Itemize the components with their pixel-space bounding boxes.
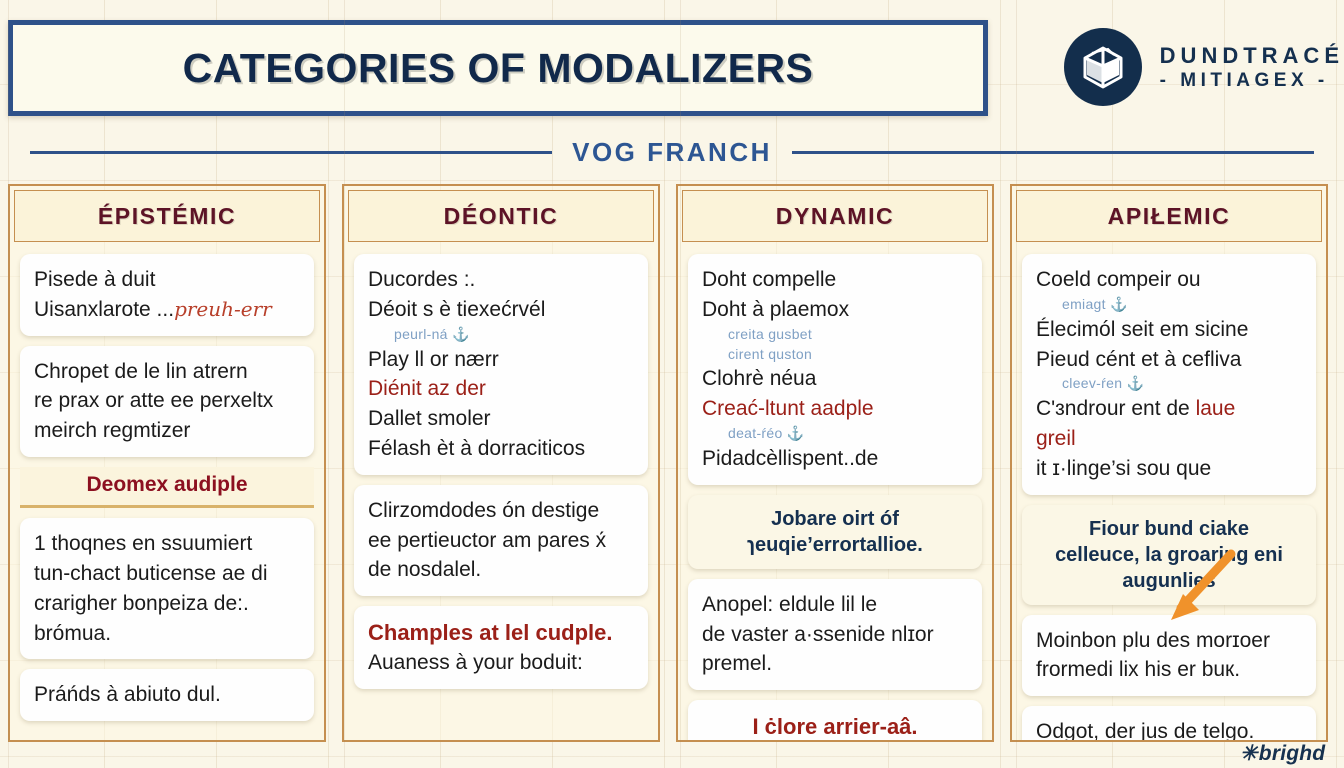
column-header-label: DÉONTIC — [444, 203, 559, 230]
line-suffix: preuh-err — [174, 297, 272, 321]
card-line: augunlies — [1036, 568, 1302, 594]
card-line: brómua. — [34, 619, 300, 649]
line-suffix: laue — [1196, 397, 1236, 420]
content-card: Ducordes :.Déoit s è tiexećrvélpeurl-ná … — [354, 254, 648, 475]
content-card: Odgot, der jus de telgo. — [1022, 706, 1316, 740]
page-title: CATEGORIES OF MODALIZERS — [183, 45, 814, 92]
line-text: Coeld compeir ou — [1036, 268, 1201, 291]
card-line: de vaster a·ssenide nlɪor — [702, 620, 968, 650]
card-line: Diénit az der — [368, 374, 634, 404]
column-header: APIŁEMIC — [1016, 190, 1322, 242]
subtitle: VOG FRANCH — [572, 137, 772, 168]
annotation-note: cleev-ŕen ⚓ — [1036, 374, 1302, 394]
line-text: Champles at lel cudple. — [368, 620, 613, 645]
category-column: DYNAMICDoht compelleDoht à plaemoxcreita… — [676, 184, 994, 742]
line-text: Ducordes :. — [368, 268, 475, 291]
card-line: crarigher bonpeiza de:. — [34, 589, 300, 619]
summary-card: Jobare oirt ófɿeuqie’errortallioe. — [688, 495, 982, 569]
content-card: Doht compelleDoht à plaemoxcreita gusbet… — [688, 254, 982, 485]
content-card: Moinbon plu des morɪoerfrormedi lix his … — [1022, 615, 1316, 697]
rule-left — [30, 151, 552, 154]
line-text: Clirzomdodes ón destige — [368, 499, 599, 522]
card-line: re prax or atte ee perxeltx — [34, 386, 300, 416]
line-text: Diénit az der — [368, 377, 486, 400]
line-text: brómua. — [34, 622, 111, 645]
line-text: creita gusbet — [728, 326, 812, 342]
line-text: de vaster a·ssenide nlɪor — [702, 623, 934, 646]
column-header-label: ÉPISTÉMIC — [98, 203, 236, 230]
line-text: Auaness à your boduit: — [368, 651, 583, 674]
category-column: ÉPISTÉMICPisede à duitUisanxlarote ...pr… — [8, 184, 326, 742]
column-header: DYNAMIC — [682, 190, 988, 242]
line-text: Élecimól seit em sicine — [1036, 318, 1248, 341]
line-text: 1 thoqnes en ssuumiert — [34, 532, 252, 555]
rule-right — [792, 151, 1314, 154]
card-line: Jobare oirt óf — [702, 506, 968, 532]
card-line: greil — [1036, 424, 1302, 454]
annotation-note: creita gusbet — [702, 325, 968, 345]
line-text: greil — [1036, 427, 1076, 450]
column-header: DÉONTIC — [348, 190, 654, 242]
line-text: Clohrè néua — [702, 367, 816, 390]
line-text: ee pertieuctor am pares x́ — [368, 529, 606, 552]
line-text: premel. — [702, 652, 772, 675]
header: CATEGORIES OF MODALIZERS DUNDTRACÉ — [0, 14, 1344, 122]
card-line: Clohrè néua — [702, 364, 968, 394]
page-title-box: CATEGORIES OF MODALIZERS — [8, 20, 988, 116]
card-line: Moinbon plu des morɪoer — [1036, 626, 1302, 656]
line-text: Play ll or nærr — [368, 348, 499, 371]
line-text: deat-ŕéo ⚓ — [728, 425, 804, 441]
card-line: de nosdalel. — [368, 555, 634, 585]
card-line: ee pertieuctor am pares x́ — [368, 526, 634, 556]
line-text: emiagt ⚓ — [1062, 296, 1128, 312]
content-card: Champles at lel cudple.Auaness à your bo… — [354, 606, 648, 689]
card-line: Félash èt à dorraciticos — [368, 434, 634, 464]
line-text: Pidadcèllispent..de — [702, 447, 878, 470]
card-line: Ducordes :. — [368, 265, 634, 295]
line-text: Fiour bund ciake — [1089, 518, 1249, 540]
card-line: premel. — [702, 649, 968, 679]
line-text: frormedi lix his er buк. — [1036, 658, 1240, 681]
watermark: ✳brighd — [1240, 741, 1344, 766]
card-line: frormedi lix his er buк. — [1036, 655, 1302, 685]
content-card: 1 thoqnes en ssuumierttun-chact buticens… — [20, 518, 314, 659]
line-text: Félash èt à dorraciticos — [368, 437, 585, 460]
card-line: Play ll or nærr — [368, 345, 634, 375]
sparkle-icon: ✳ — [1240, 741, 1258, 766]
column-body: Coeld compeir ouemiagt ⚓Élecimól seit em… — [1012, 246, 1326, 740]
category-column: DÉONTICDucordes :.Déoit s è tiexećrvélpe… — [342, 184, 660, 742]
column-body: Doht compelleDoht à plaemoxcreita gusbet… — [678, 246, 992, 740]
line-text: Moinbon plu des morɪoer — [1036, 629, 1270, 652]
brand-name: DUNDTRACÉ — [1160, 42, 1344, 69]
card-line: Pieud cént et à cefliva — [1036, 345, 1302, 375]
column-header: ÉPISTÉMIC — [14, 190, 320, 242]
line-text: Práńds à abiuto dul. — [34, 683, 221, 706]
content-card: Chropet de le lin atrernre prax or atte … — [20, 346, 314, 457]
card-line: ɿeuqie’errortallioe. — [702, 532, 968, 558]
column-body: Pisede à duitUisanxlarote ...preuh-errCh… — [10, 246, 324, 740]
line-text: Pieud cént et à cefliva — [1036, 348, 1241, 371]
line-text: ɿeuqie’errortallioe. — [747, 534, 923, 556]
annotation-note: emiagt ⚓ — [1036, 295, 1302, 315]
line-text: Doht à plaemox — [702, 298, 849, 321]
line-text: de nosdalel. — [368, 558, 481, 581]
line-text: cirent quston — [728, 346, 812, 362]
line-text: re prax or atte ee perxeltx — [34, 389, 273, 412]
card-line: Champles at lel cudple. — [368, 617, 634, 648]
watermark-text: brighd — [1259, 742, 1326, 766]
line-text: Chropet de le lin atrern — [34, 360, 248, 383]
category-columns: ÉPISTÉMICPisede à duitUisanxlarote ...pr… — [8, 184, 1340, 742]
card-line: Uisanxlarote ...preuh-err — [34, 295, 300, 325]
content-card: Pisede à duitUisanxlarote ...preuh-err — [20, 254, 314, 336]
line-text: peurl-ná ⚓ — [394, 326, 470, 342]
category-column: APIŁEMICCoeld compeir ouemiagt ⚓Élecimól… — [1010, 184, 1328, 742]
column-header-label: APIŁEMIC — [1108, 203, 1231, 230]
annotation-note: peurl-ná ⚓ — [368, 325, 634, 345]
subtitle-row: VOG FRANCH — [30, 133, 1314, 171]
line-text: meirch regmtizer — [34, 419, 190, 442]
line-text: Odgot, der jus de telgo. — [1036, 720, 1254, 740]
card-line: Chropet de le lin atrern — [34, 357, 300, 387]
brand-logo: DUNDTRACÉ - MITIAGEX - — [1064, 28, 1344, 106]
line-text: Uisanxlarote ... — [34, 298, 174, 321]
card-line: celleuce, la groaring eni — [1036, 542, 1302, 568]
card-line: Pisede à duit — [34, 265, 300, 295]
brand-text: DUNDTRACÉ - MITIAGEX - — [1160, 42, 1344, 93]
column-header-label: DYNAMIC — [776, 203, 895, 230]
card-line: tun-chact buticense ae di — [34, 559, 300, 589]
line-text: Creać-ltunt aadple — [702, 397, 874, 420]
card-line: Déoit s è tiexećrvél — [368, 295, 634, 325]
line-text: celleuce, la groaring eni — [1055, 544, 1283, 566]
line-text: Pisede à duit — [34, 268, 155, 291]
content-card: Clirzomdodes ón destigeee pertieuctor am… — [354, 485, 648, 596]
line-text: Anopel: eldule lil le — [702, 593, 877, 616]
card-line: 1 thoqnes en ssuumiert — [34, 529, 300, 559]
card-line: it ɪ·linge’si sou que — [1036, 454, 1302, 484]
line-text: Doht compelle — [702, 268, 836, 291]
card-line: Dallet smoler — [368, 404, 634, 434]
card-line: Doht compelle — [702, 265, 968, 295]
card-line: Práńds à abiuto dul. — [34, 680, 300, 710]
line-text: Jobare oirt óf — [771, 508, 899, 530]
content-card: Anopel: eldule lil lede vaster a·ssenide… — [688, 579, 982, 690]
annotation-note: deat-ŕéo ⚓ — [702, 424, 968, 444]
card-line: meirch regmtizer — [34, 416, 300, 446]
content-card: Práńds à abiuto dul. — [20, 669, 314, 721]
line-text: tun-chact buticense ae di — [34, 562, 267, 585]
line-text: cleev-ŕen ⚓ — [1062, 375, 1144, 391]
poster-canvas: CATEGORIES OF MODALIZERS DUNDTRACÉ — [0, 0, 1344, 768]
card-line: Coeld compeir ou — [1036, 265, 1302, 295]
line-text: Déoit s è tiexećrvél — [368, 298, 545, 321]
summary-card: Fiour bund ciakecelleuce, la groaring en… — [1022, 505, 1316, 605]
card-line: Élecimól seit em sicine — [1036, 315, 1302, 345]
card-line: Doht à plaemox — [702, 295, 968, 325]
card-line: Auaness à your boduit: — [368, 648, 634, 678]
line-text: it ɪ·linge’si sou que — [1036, 457, 1211, 480]
card-line: Odgot, der jus de telgo. — [1036, 717, 1302, 740]
card-line: Anopel: eldule lil le — [702, 590, 968, 620]
highlight-band: Deomex audiple — [20, 467, 314, 508]
content-card: Coeld compeir ouemiagt ⚓Élecimól seit em… — [1022, 254, 1316, 495]
line-text: C'ɜndrour ent de — [1036, 397, 1196, 420]
card-line: Creać-ltunt aadple — [702, 394, 968, 424]
card-line: Pidadcèllispent..de — [702, 444, 968, 474]
annotation-note: cirent quston — [702, 345, 968, 365]
column-body: Ducordes :.Déoit s è tiexećrvélpeurl-ná … — [344, 246, 658, 740]
line-text: augunlies — [1122, 570, 1215, 592]
card-line: Fiour bund ciake — [1036, 516, 1302, 542]
line-text: crarigher bonpeiza de:. — [34, 592, 249, 615]
line-text: Dallet smoler — [368, 407, 491, 430]
emphasis-card: I ċlore arrier-aâ. — [688, 700, 982, 740]
card-line: Clirzomdodes ón destige — [368, 496, 634, 526]
brand-subtitle: - MITIAGEX - — [1160, 69, 1344, 93]
hexagon-cube-icon — [1064, 28, 1142, 106]
card-line: C'ɜndrour ent de laue — [1036, 394, 1302, 424]
